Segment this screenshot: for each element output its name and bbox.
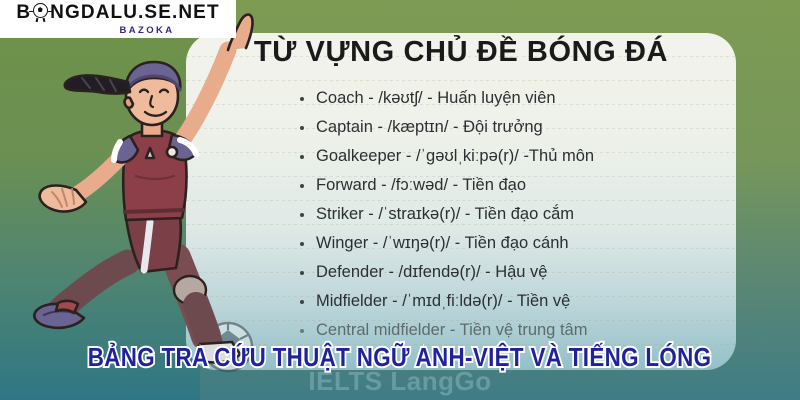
list-item: Goalkeeper - /ˈɡəʊlˌkiːpə(r)/ -Thủ môn [296,142,716,171]
bottom-banner: BẢNG TRA CỨU THUẬT NGỮ ANH-VIỆT VÀ TIẾNG… [0,342,800,373]
list-item: Winger - /ˈwɪŋə(r)/ - Tiền đạo cánh [296,229,716,258]
infographic-canvas: B NGDALU .SE.NET BAZOKA TỪ VỰNG CHỦ ĐỀ B… [0,0,800,400]
list-item: Midfielder - /ˈmɪdˌfiːldə(r)/ - Tiền vệ [296,287,716,316]
bottom-banner-text: BẢNG TRA CỨU THUẬT NGỮ ANH-VIỆT VÀ TIẾNG… [88,342,712,373]
logo-wordmark: B NGDALU .SE.NET [16,3,219,22]
page-title: TỪ VỰNG CHỦ ĐỀ BÓNG ĐÁ [186,36,736,69]
list-item: Striker - /ˈstraɪkə(r)/ - Tiền đạo cắm [296,200,716,229]
logo-rest-dark: NGDALU [50,3,138,22]
soccer-ball-mascot-icon [31,3,50,22]
vocabulary-list: Coach - /kəʊtʃ/ - Huấn luyện viên Captai… [296,84,716,345]
list-item: Central midfielder - Tiền vệ trung tâm [296,316,716,345]
site-logo[interactable]: B NGDALU .SE.NET BAZOKA [0,0,236,38]
logo-rest-blue: .SE.NET [138,3,220,22]
list-item: Captain - /kæptɪn/ - Đội trưởng [296,113,716,142]
logo-subtitle: BAZOKA [119,25,174,36]
list-item: Forward - /fɔːwəd/ - Tiền đạo [296,171,716,200]
list-item: Coach - /kəʊtʃ/ - Huấn luyện viên [296,84,716,113]
list-item: Defender - /dɪfendə(r)/ - Hậu vệ [296,258,716,287]
